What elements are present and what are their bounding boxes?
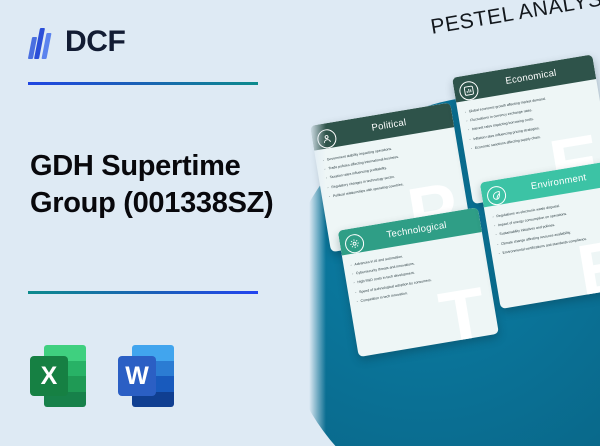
- card-title-political: Political: [357, 117, 407, 136]
- pestel-card-environment[interactable]: Environment E Regulations on electronic …: [480, 159, 600, 309]
- divider-bottom: [28, 291, 258, 294]
- bullet-list-environment: Regulations on electronic waste disposal…: [492, 194, 600, 255]
- cover-page: DCF GDH Supertime Group (001338SZ) X W P…: [0, 0, 600, 446]
- brand-name: DCF: [65, 27, 125, 57]
- pestel-card-technological[interactable]: Technological T Advances in AI and autom…: [338, 207, 499, 357]
- word-file-icon-letter: W: [118, 356, 156, 396]
- divider-top: [28, 82, 258, 85]
- card-title-economical: Economical: [491, 68, 558, 90]
- excel-file-icon[interactable]: X: [30, 345, 86, 407]
- bullet-list-political: Government stability impacting operation…: [323, 137, 456, 198]
- pestel-card-grid: Political P Government stability impacti…: [302, 27, 600, 343]
- word-file-icon[interactable]: W: [118, 345, 174, 407]
- brand-logo[interactable]: DCF: [30, 25, 125, 59]
- bullet-list-economical: Global economic growth affecting market …: [465, 89, 598, 150]
- ghost-letter-environment: E: [574, 236, 600, 301]
- bullet-list-technological: Advances in AI and automation. Cybersecu…: [350, 242, 483, 303]
- pestel-artwork: PESTEL ANALYSIS Political P Government s…: [300, 0, 600, 446]
- page-title: GDH Supertime Group (001338SZ): [30, 148, 298, 222]
- file-format-icons: X W: [30, 345, 174, 407]
- excel-file-icon-letter: X: [30, 356, 68, 396]
- bar-chart-logo-icon: [30, 25, 56, 59]
- artwork-left-fade: [300, 0, 326, 446]
